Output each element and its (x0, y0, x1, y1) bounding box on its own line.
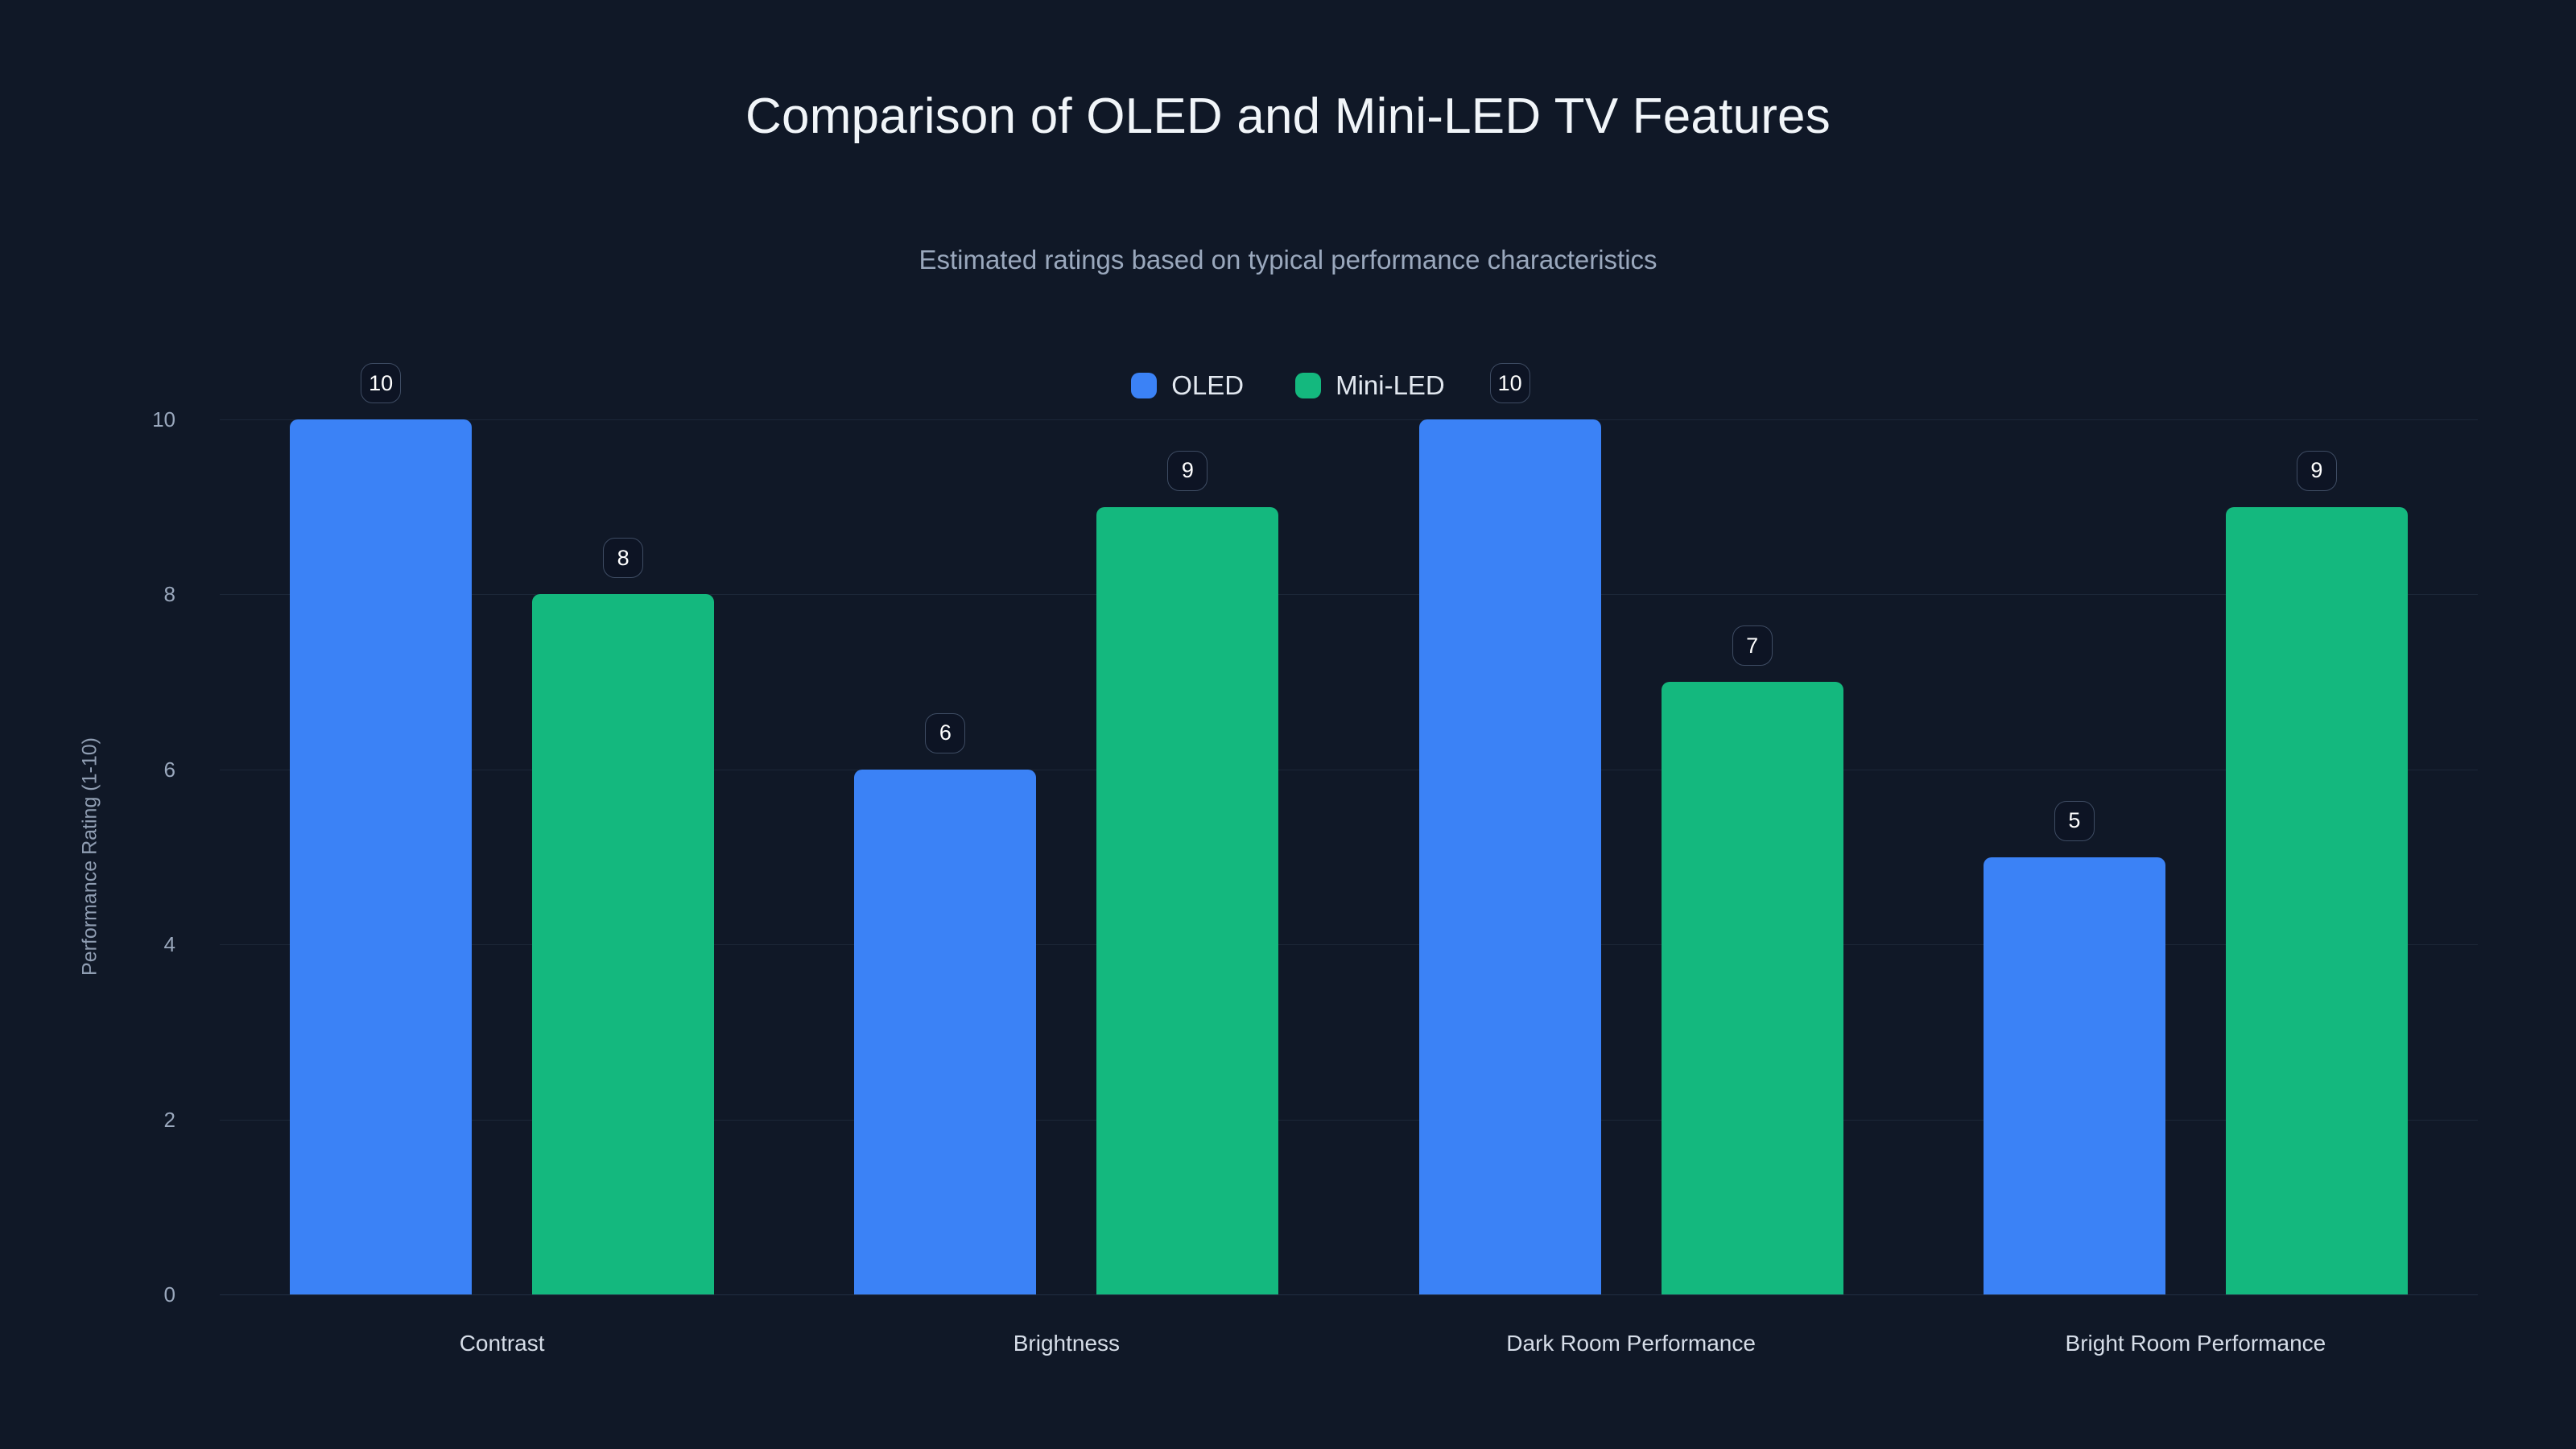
value-badge-mini-led-dark-room-performance: 7 (1732, 625, 1773, 666)
gridline-10 (220, 419, 2478, 420)
plot-area: 1086910759 (220, 419, 2478, 1294)
value-badge-mini-led-contrast: 8 (603, 538, 643, 578)
x-tick-label-brightness: Brightness (1013, 1332, 1120, 1355)
legend-item-mini-led[interactable]: Mini-LED (1295, 372, 1445, 398)
legend-swatch-mini-led-icon (1295, 373, 1321, 398)
x-tick-label-bright-room-performance: Bright Room Performance (2066, 1332, 2326, 1355)
value-badge-mini-led-brightness: 9 (1167, 451, 1207, 491)
value-badge-mini-led-bright-room-performance: 9 (2297, 451, 2337, 491)
bar-oled-dark-room-performance[interactable] (1419, 419, 1601, 1294)
y-axis-tick-labels: 0246810 (0, 419, 200, 1294)
bar-chart-figure: Comparison of OLED and Mini-LED TV Featu… (0, 0, 2576, 1449)
x-axis-tick-labels: ContrastBrightnessDark Room PerformanceB… (220, 1332, 2478, 1373)
legend-label-oled: OLED (1171, 372, 1244, 398)
bar-mini-led-bright-room-performance[interactable] (2226, 507, 2408, 1294)
chart-subtitle: Estimated ratings based on typical perfo… (0, 246, 2576, 273)
y-tick-label-8: 8 (164, 584, 175, 605)
bar-mini-led-contrast[interactable] (532, 594, 714, 1294)
y-tick-label-4: 4 (164, 934, 175, 955)
value-badge-oled-bright-room-performance: 5 (2054, 801, 2095, 841)
legend-swatch-oled-icon (1131, 373, 1157, 398)
y-tick-label-6: 6 (164, 759, 175, 780)
legend-item-oled[interactable]: OLED (1131, 372, 1244, 398)
value-badge-oled-dark-room-performance: 10 (1490, 363, 1530, 403)
y-tick-label-10: 10 (152, 409, 175, 430)
legend-label-mini-led: Mini-LED (1335, 372, 1445, 398)
x-tick-label-contrast: Contrast (460, 1332, 545, 1355)
gridline-0 (220, 1294, 2478, 1295)
bar-oled-bright-room-performance[interactable] (1984, 857, 2165, 1295)
bar-mini-led-brightness[interactable] (1096, 507, 1278, 1294)
value-badge-oled-brightness: 6 (925, 713, 965, 753)
bar-oled-contrast[interactable] (290, 419, 472, 1294)
value-badge-oled-contrast: 10 (361, 363, 401, 403)
y-tick-label-2: 2 (164, 1109, 175, 1130)
bar-mini-led-dark-room-performance[interactable] (1662, 682, 1843, 1294)
x-tick-label-dark-room-performance: Dark Room Performance (1506, 1332, 1756, 1355)
chart-title: Comparison of OLED and Mini-LED TV Featu… (0, 92, 2576, 142)
bar-oled-brightness[interactable] (854, 770, 1036, 1294)
y-tick-label-0: 0 (164, 1284, 175, 1305)
